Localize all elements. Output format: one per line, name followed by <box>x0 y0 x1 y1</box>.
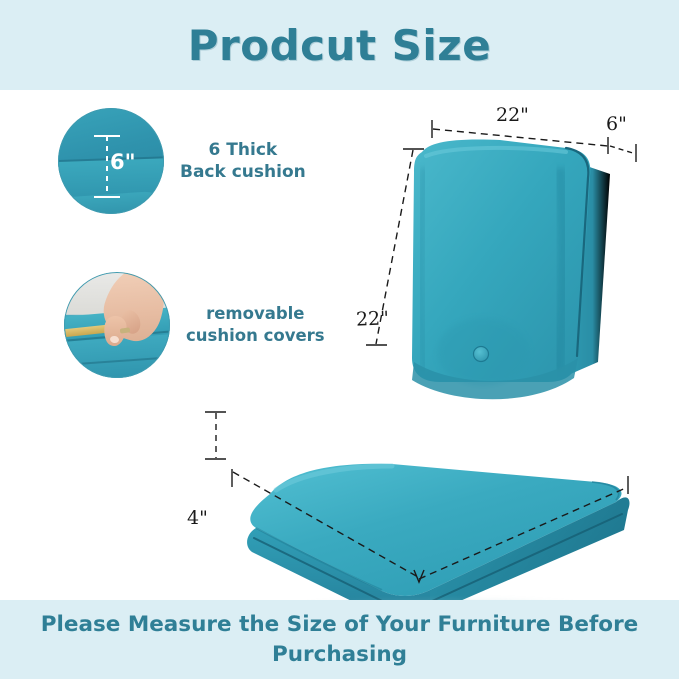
back-cushion-left-shade <box>421 168 424 372</box>
line-back-depth <box>610 146 636 154</box>
footer-band: Please Measure the Size of Your Furnitur… <box>0 600 679 679</box>
tuft-button-icon <box>474 347 489 362</box>
measure-cap-bottom-icon <box>94 196 120 198</box>
measure-dashed-line-icon <box>106 136 108 198</box>
cushion-thickness-photo-icon: 6" <box>58 108 164 214</box>
dimension-label-seat-thickness: 4" <box>187 507 208 529</box>
feature-callout-covers-label: removable cushion covers <box>186 303 325 347</box>
dimension-label-back-depth: 6" <box>606 113 627 135</box>
feature-callout-thickness: 6" 6 Thick Back cushion <box>58 108 306 214</box>
back-cushion-right-shade <box>558 168 564 372</box>
page-title: Prodcut Size <box>188 21 492 70</box>
callout-thickness-value: 6" <box>110 150 136 174</box>
feature-callout-covers: removable cushion covers <box>64 272 325 378</box>
header-band: Prodcut Size <box>0 0 679 90</box>
illustration-stage: 22" 6" 22" 4" 22" 24" 6" 6 Thick Back cu… <box>0 90 679 600</box>
product-size-infographic: Prodcut Size <box>0 0 679 679</box>
dimension-label-back-height: 22" <box>356 307 390 330</box>
footer-notice: Please Measure the Size of Your Furnitur… <box>20 610 660 670</box>
feature-callout-thickness-label: 6 Thick Back cushion <box>180 139 306 183</box>
hand-zipper-photo-icon <box>64 272 170 378</box>
dimension-label-back-width: 22" <box>496 104 529 126</box>
